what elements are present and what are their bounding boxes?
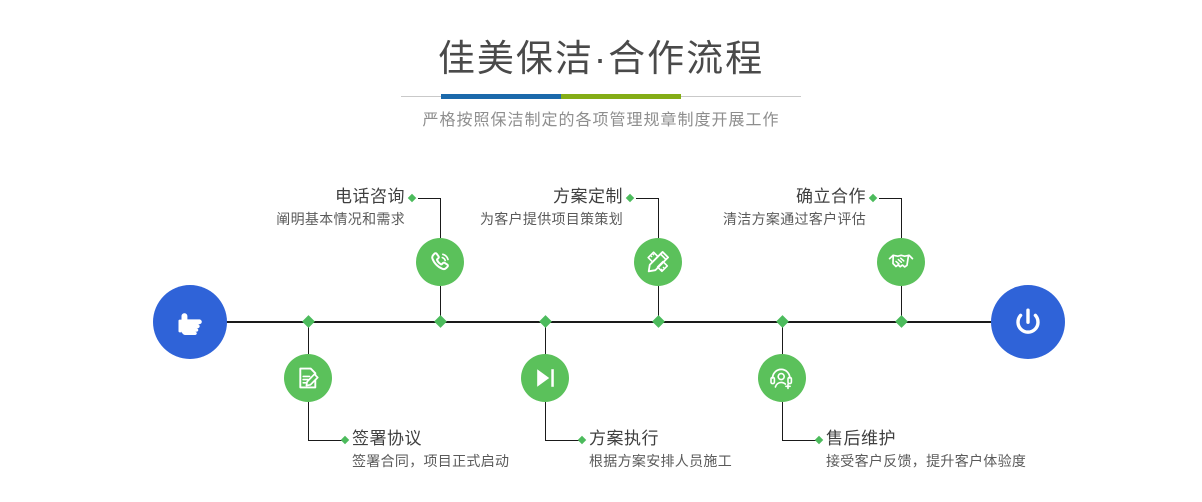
step-title-6: 售后维护 — [826, 429, 1146, 449]
label-diamond-2 — [341, 436, 349, 444]
connector-vertical-5b — [901, 198, 902, 238]
timeline-end-node[interactable] — [991, 285, 1065, 359]
axis-diamond-4 — [539, 315, 552, 328]
power-icon — [1008, 302, 1048, 342]
step-desc-6: 接受客户反馈，提升客户体验度 — [826, 451, 1146, 471]
connector-vertical-6b — [782, 402, 783, 440]
connector-horizontal-6 — [782, 440, 816, 441]
page-title: 佳美保洁·合作流程 — [0, 36, 1202, 82]
label-diamond-5 — [869, 194, 877, 202]
step-icon-4[interactable] — [521, 354, 569, 402]
step-icon-1[interactable] — [416, 238, 464, 286]
axis-diamond-2 — [302, 315, 315, 328]
axis-diamond-5 — [895, 315, 908, 328]
divider-segment-blue — [441, 94, 561, 99]
flow-diagram-canvas: 佳美保洁·合作流程 严格按照保洁制定的各项管理规章制度开展工作 — [0, 0, 1202, 502]
title-divider — [401, 94, 801, 99]
timeline-start-node[interactable] — [153, 285, 227, 359]
step-icon-6[interactable] — [758, 354, 806, 402]
step-desc-5: 清洁方案通过客户评估 — [566, 209, 866, 229]
play-skip-icon — [531, 364, 559, 392]
connector-vertical-2b — [308, 402, 309, 440]
divider-segment-green — [561, 94, 681, 99]
step-label-5: 确立合作 清洁方案通过客户评估 — [566, 187, 866, 229]
pointing-hand-icon — [170, 302, 210, 342]
connector-vertical-4b — [545, 402, 546, 440]
phone-call-icon — [426, 248, 454, 276]
axis-diamond-1 — [434, 315, 447, 328]
document-edit-icon — [294, 364, 322, 392]
step-title-5: 确立合作 — [566, 187, 866, 207]
step-icon-3[interactable] — [634, 238, 682, 286]
step-icon-2[interactable] — [284, 354, 332, 402]
page-subtitle: 严格按照保洁制定的各项管理规章制度开展工作 — [0, 106, 1202, 130]
connector-horizontal-5 — [879, 198, 902, 199]
headset-support-icon — [768, 364, 796, 392]
handshake-icon — [887, 248, 915, 276]
step-label-6: 售后维护 接受客户反馈，提升客户体验度 — [826, 429, 1146, 471]
connector-horizontal-2 — [308, 440, 342, 441]
axis-diamond-3 — [652, 315, 665, 328]
connector-horizontal-4 — [545, 440, 579, 441]
step-icon-5[interactable] — [877, 238, 925, 286]
pencil-ruler-icon — [644, 248, 672, 276]
axis-diamond-6 — [776, 315, 789, 328]
